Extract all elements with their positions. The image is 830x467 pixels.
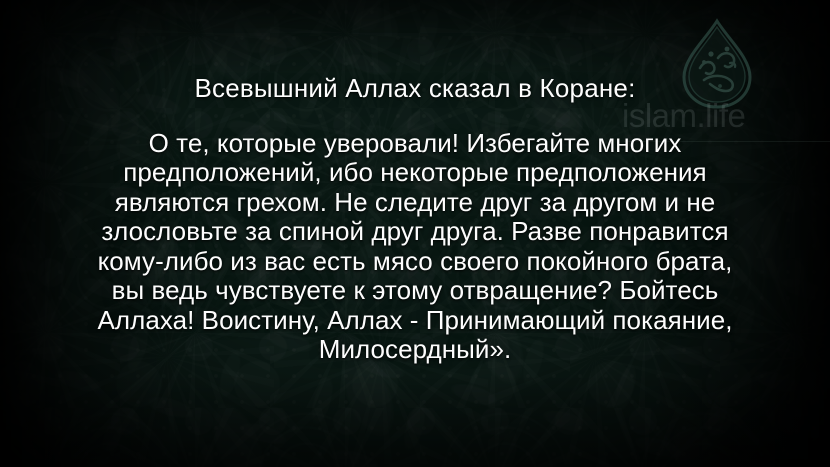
- quote-line: О те, которые уверовали! Избегайте многи…: [60, 129, 770, 159]
- quote-line: предположений, ибо некоторые предположен…: [60, 158, 770, 188]
- quote-line: злословьте за спиной друг друга. Разве п…: [60, 217, 770, 247]
- content-area: Всевышний Аллах сказал в Коране: О те, к…: [0, 0, 830, 467]
- quote-line: являются грехом. Не следите друг за друг…: [60, 188, 770, 218]
- quote-line: вы ведь чувствуете к этому отвращение? Б…: [60, 276, 770, 306]
- quote-line: кому-либо из вас есть мясо своего покойн…: [60, 247, 770, 277]
- quote-line: Аллаха! Воистину, Аллах - Принимающий по…: [60, 306, 770, 336]
- quote-body: О те, которые уверовали! Избегайте многи…: [60, 129, 770, 365]
- quote-line: Милосердный».: [60, 335, 770, 365]
- quote-title: Всевышний Аллах сказал в Коране:: [194, 74, 635, 103]
- quote-card: islam.life Всевышний Аллах сказал в Кора…: [0, 0, 830, 467]
